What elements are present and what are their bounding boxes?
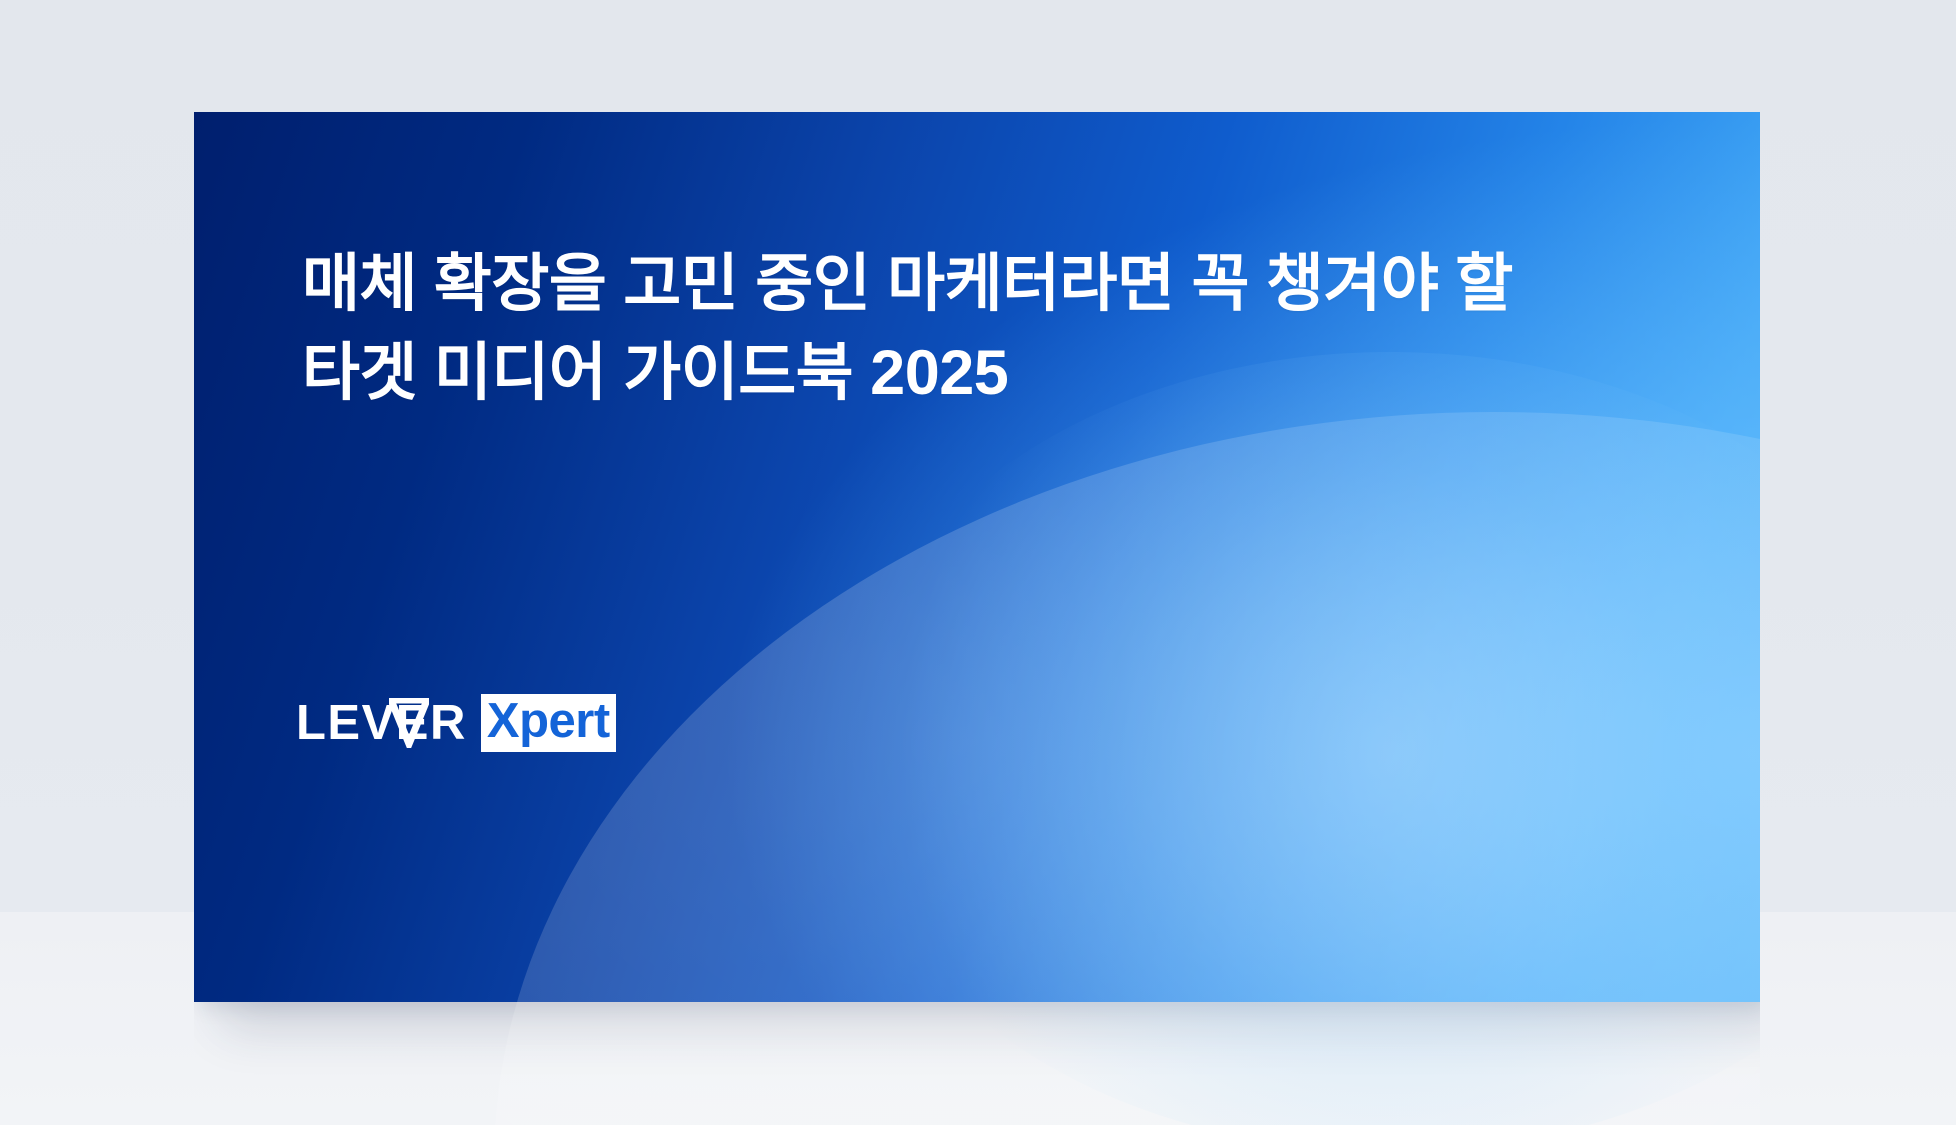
brand-logo: LEVER Xpert [296, 694, 616, 752]
page-title: 매체 확장을 고민 중인 마케터라면 꼭 챙겨야 할 타겟 미디어 가이드북 2… [302, 240, 1682, 419]
page-title-line-1: 매체 확장을 고민 중인 마케터라면 꼭 챙겨야 할 [302, 240, 1682, 329]
brand-logo-v-triangle-icon [389, 698, 429, 748]
promo-card: 매체 확장을 고민 중인 마케터라면 꼭 챙겨야 할 타겟 미디어 가이드북 2… [194, 112, 1760, 1125]
brand-logo-lever-text: LEVER [296, 699, 467, 748]
brand-logo-xpert-x: X [487, 694, 519, 748]
decorative-arc-shape [494, 412, 1760, 1125]
promo-card-surface: 매체 확장을 고민 중인 마케터라면 꼭 챙겨야 할 타겟 미디어 가이드북 2… [194, 112, 1760, 1002]
brand-logo-xpert-badge: Xpert [481, 694, 616, 752]
page-title-line-2: 타겟 미디어 가이드북 2025 [302, 329, 1682, 418]
brand-logo-xpert-rest: pert [519, 694, 610, 748]
brand-logo-lever-label: LEVER [296, 696, 467, 750]
decorative-glow-shape [840, 352, 1760, 1125]
